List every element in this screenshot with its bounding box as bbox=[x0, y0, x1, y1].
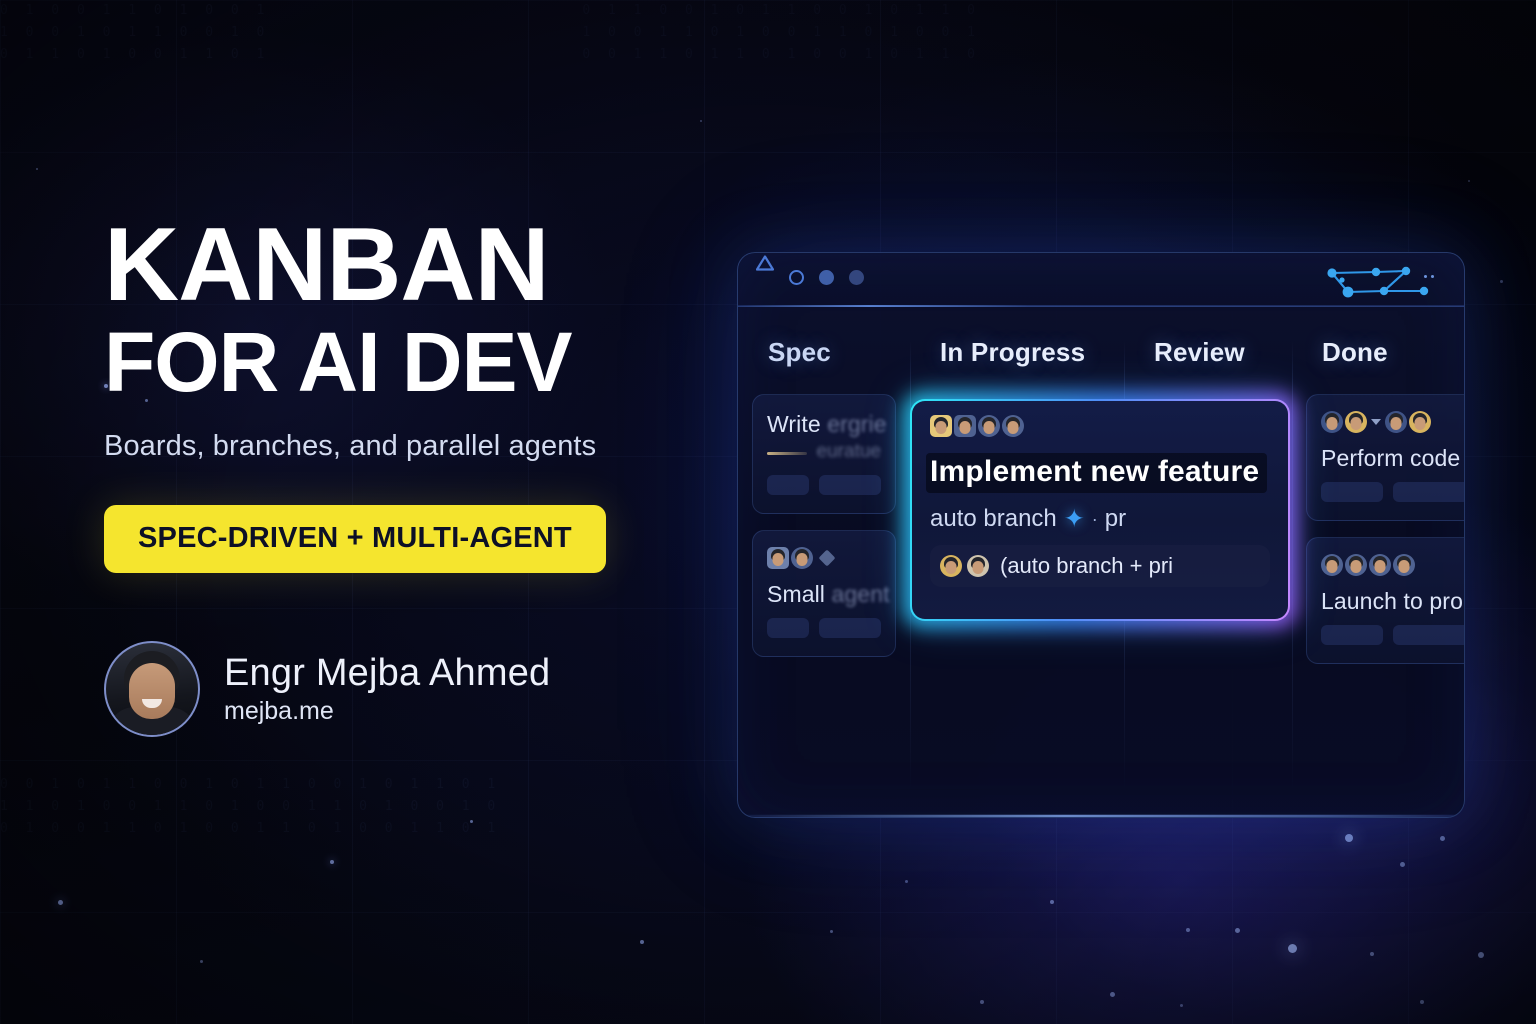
card-title-blurred: agent bbox=[832, 581, 890, 607]
card-avatars bbox=[1321, 411, 1465, 433]
skeleton-bar bbox=[1321, 625, 1383, 645]
skeleton-bar bbox=[819, 475, 881, 495]
avatar bbox=[1321, 554, 1343, 576]
column-title-done: Done bbox=[1322, 337, 1464, 368]
kanban-card[interactable]: Small agent bbox=[752, 530, 896, 657]
card-skeletons bbox=[767, 618, 881, 638]
featured-card-avatars bbox=[930, 415, 1270, 437]
card-title: Small agent bbox=[767, 581, 881, 608]
author-block: Engr Mejba Ahmed mejba.me bbox=[104, 641, 744, 737]
triangle-icon[interactable] bbox=[756, 270, 774, 285]
avatar bbox=[940, 555, 962, 577]
kanban-card[interactable]: Launch to pro duction bbox=[1306, 537, 1465, 664]
chevron-down-icon[interactable] bbox=[1371, 419, 1381, 425]
card-subtext-blurred: euratue bbox=[817, 441, 881, 463]
kanban-column-spec: Spec Write ergrie euratue bbox=[738, 325, 910, 817]
card-title: Perform code bbox=[1321, 445, 1465, 472]
avatar bbox=[767, 547, 789, 569]
avatar bbox=[791, 547, 813, 569]
avatar bbox=[1345, 554, 1367, 576]
card-title: Write ergrie bbox=[767, 411, 881, 438]
featured-chip-text: (auto branch + pri bbox=[1000, 553, 1173, 579]
avatar bbox=[1345, 411, 1367, 433]
circle-icon[interactable] bbox=[789, 270, 804, 285]
card-accent-rule bbox=[767, 452, 807, 455]
separator-dot: · bbox=[1092, 509, 1098, 530]
skeleton-bar bbox=[819, 618, 881, 638]
column-title-in-progress: In Progress bbox=[940, 337, 1110, 368]
card-title-text: Launch to pro bbox=[1321, 588, 1463, 614]
kanban-column-done: Done Perform code bbox=[1292, 325, 1465, 817]
column-title-review: Review bbox=[1154, 337, 1278, 368]
dot-icon[interactable] bbox=[819, 270, 834, 285]
avatar bbox=[978, 415, 1000, 437]
more-dots-icon[interactable] bbox=[1424, 275, 1434, 278]
card-avatars bbox=[767, 547, 881, 569]
avatar bbox=[1002, 415, 1024, 437]
featured-subtitle-suffix: pr bbox=[1105, 505, 1126, 533]
page-title-line1: KANBAN bbox=[104, 218, 744, 314]
skeleton-bar bbox=[1393, 482, 1465, 502]
avatar bbox=[1385, 411, 1407, 433]
featured-kanban-card[interactable]: Implement new feature auto branch ✦ · pr… bbox=[910, 399, 1290, 621]
skeleton-bar bbox=[767, 475, 809, 495]
avatar bbox=[1409, 411, 1431, 433]
featured-card-chip[interactable]: (auto branch + pri bbox=[930, 545, 1270, 587]
avatar bbox=[954, 415, 976, 437]
card-skeletons bbox=[1321, 482, 1465, 502]
card-title-blurred: ergrie bbox=[827, 411, 886, 437]
card-avatars bbox=[1321, 554, 1465, 576]
author-name: Engr Mejba Ahmed bbox=[224, 652, 550, 695]
skeleton-bar bbox=[1321, 482, 1383, 502]
featured-card-subtitle: auto branch ✦ · pr bbox=[930, 505, 1270, 533]
card-title-text: Write bbox=[767, 411, 821, 437]
avatar bbox=[1321, 411, 1343, 433]
sparkle-icon: ✦ bbox=[1064, 507, 1085, 532]
card-skeletons bbox=[767, 475, 881, 495]
card-title: Launch to pro duction bbox=[1321, 588, 1465, 615]
page-title-line2: FOR AI DEV bbox=[104, 320, 744, 404]
avatar bbox=[1369, 554, 1391, 576]
featured-subtitle-prefix: auto branch bbox=[930, 505, 1057, 533]
card-skeletons bbox=[1321, 625, 1465, 645]
window-titlebar bbox=[738, 253, 1464, 307]
skeleton-bar bbox=[1393, 625, 1465, 645]
avatar bbox=[104, 641, 200, 737]
featured-card-title: Implement new feature bbox=[926, 453, 1267, 493]
dot-icon[interactable] bbox=[849, 270, 864, 285]
avatar bbox=[930, 415, 952, 437]
kanban-card[interactable]: Perform code bbox=[1306, 394, 1465, 521]
column-title-spec: Spec bbox=[768, 337, 896, 368]
diamond-icon bbox=[819, 550, 836, 567]
avatar bbox=[1393, 554, 1415, 576]
card-title-text: Small bbox=[767, 581, 825, 607]
kanban-card[interactable]: Write ergrie euratue bbox=[752, 394, 896, 514]
status-badge: SPEC-DRIVEN + MULTI-AGENT bbox=[104, 505, 606, 573]
page-subtitle: Boards, branches, and parallel agents bbox=[104, 430, 744, 463]
author-url: mejba.me bbox=[224, 697, 550, 726]
skeleton-bar bbox=[767, 618, 809, 638]
hero-content: KANBAN FOR AI DEV Boards, branches, and … bbox=[104, 218, 744, 737]
avatar bbox=[967, 555, 989, 577]
node-graph-logo bbox=[1324, 263, 1442, 304]
